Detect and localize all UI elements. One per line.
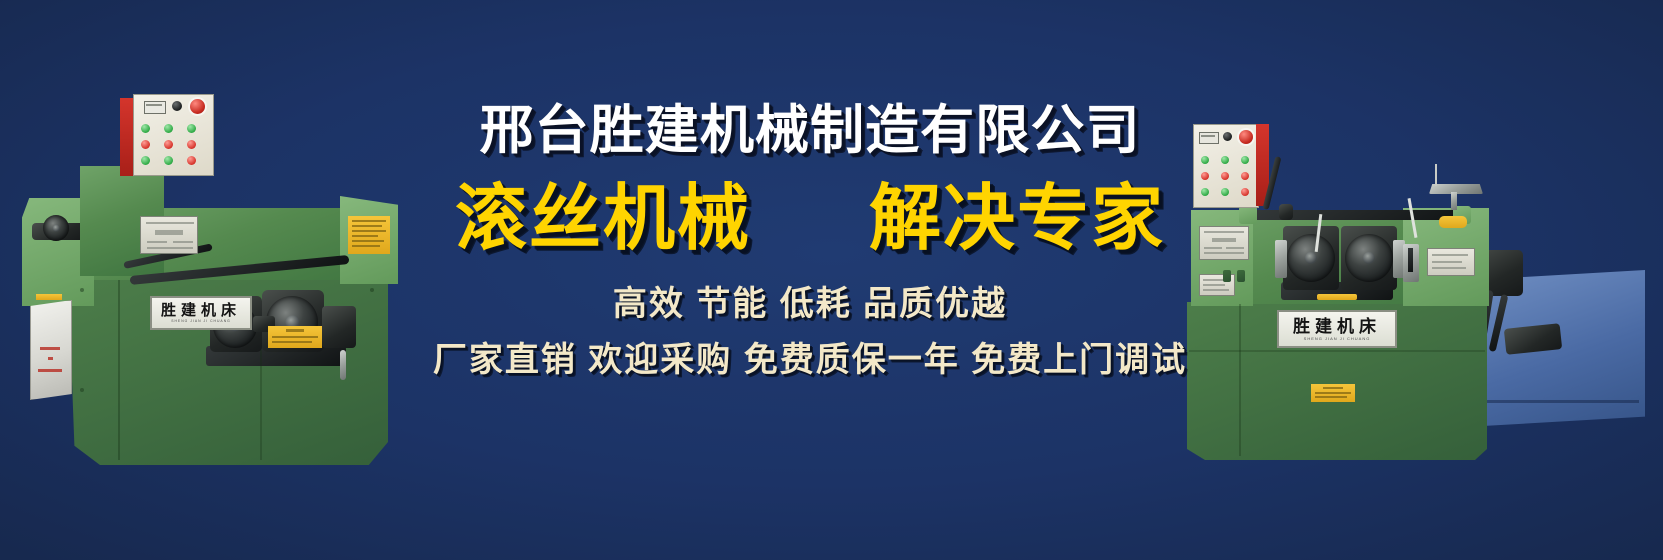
- panel-indicator-3[interactable]: [187, 124, 196, 133]
- control-panel-left-red-edge: [120, 98, 134, 176]
- machine-right-roller-die-b: [1345, 234, 1393, 282]
- panel-indicator-4[interactable]: [141, 140, 150, 149]
- machine-left-bolt-1: [80, 288, 84, 292]
- machine-left-bolt-3: [370, 288, 374, 292]
- panel-emergency-stop-icon[interactable]: [190, 99, 205, 114]
- panel-indicator-8[interactable]: [164, 156, 173, 165]
- machine-right: 胜建机床 SHENG JIAN JI CHUANG: [1165, 122, 1645, 462]
- machine-left-electrical-cabinet: [30, 300, 72, 400]
- panel-right-indicator-5[interactable]: [1221, 172, 1229, 180]
- panel-right-indicator-4[interactable]: [1201, 172, 1209, 180]
- machine-left-nameplate-cn: 胜建机床: [161, 303, 241, 318]
- machine-right-spec-plate: [1199, 226, 1249, 260]
- panel-right-selector-knob-icon[interactable]: [1223, 132, 1232, 141]
- panel-right-indicator-2[interactable]: [1221, 156, 1229, 164]
- panel-right-indicator-9[interactable]: [1241, 188, 1249, 196]
- panel-right-display-icon: [1199, 132, 1219, 144]
- machine-left-panel-seam-b: [260, 350, 262, 460]
- machine-left-cabinet-top-strip: [36, 294, 62, 300]
- machine-right-slide-a: [1275, 240, 1287, 278]
- panel-indicator-1[interactable]: [141, 124, 150, 133]
- machine-right-sight-glass-tube: [1408, 248, 1413, 272]
- panel-selector-knob-icon[interactable]: [172, 101, 182, 111]
- machine-left-motor: [322, 306, 356, 348]
- machine-right-panel-seam: [1239, 304, 1241, 456]
- machine-left-warning-label: [268, 326, 322, 348]
- machine-right-gauge-plate: [1427, 248, 1475, 276]
- machine-right-antenna: [1435, 164, 1437, 186]
- machine-right-hydraulic-seam: [1487, 400, 1639, 403]
- panel-right-indicator-3[interactable]: [1241, 156, 1249, 164]
- machine-right-cable-gland: [1279, 204, 1293, 220]
- panel-display-line: [146, 104, 162, 106]
- machine-left-bolt-2: [80, 388, 84, 392]
- machine-right-terminal-block: [1439, 216, 1467, 228]
- panel-indicator-9[interactable]: [187, 156, 196, 165]
- machine-right-fixture-post: [1451, 192, 1457, 210]
- panel-indicator-5[interactable]: [164, 140, 173, 149]
- panel-indicator-6[interactable]: [187, 140, 196, 149]
- machine-left-panel-seam-a: [118, 280, 120, 460]
- panel-right-emergency-stop-icon[interactable]: [1239, 130, 1253, 144]
- panel-right-indicator-1[interactable]: [1201, 156, 1209, 164]
- machine-left: 胜建机床 SHENG JIAN JI CHUANG: [10, 88, 420, 478]
- panel-right-indicator-6[interactable]: [1241, 172, 1249, 180]
- machine-right-base-edge: [1189, 350, 1485, 352]
- machine-left-spec-label-right: [348, 216, 390, 254]
- machine-right-knob-b[interactable]: [1237, 270, 1245, 282]
- machine-right-nameplate: 胜建机床 SHENG JIAN JI CHUANG: [1277, 310, 1397, 348]
- machine-left-pulley-left: [43, 215, 69, 241]
- panel-right-indicator-8[interactable]: [1221, 188, 1229, 196]
- machine-right-tie-bar-end-l: [1239, 206, 1257, 224]
- panel-display-icon: [144, 101, 166, 114]
- machine-left-control-panel[interactable]: [120, 94, 212, 178]
- machine-right-roller-die-a: [1287, 234, 1335, 282]
- panel-right-indicator-7[interactable]: [1201, 188, 1209, 196]
- machine-left-nameplate-pinyin: SHENG JIAN JI CHUANG: [171, 320, 231, 323]
- machine-left-stop-rod: [340, 350, 346, 380]
- machine-right-knob-a[interactable]: [1223, 270, 1231, 282]
- machine-right-nameplate-pinyin: SHENG JIAN JI CHUANG: [1304, 337, 1371, 341]
- machine-left-spec-plate: [140, 216, 198, 254]
- panel-indicator-7[interactable]: [141, 156, 150, 165]
- machine-right-control-panel[interactable]: [1193, 124, 1269, 206]
- machine-right-workpiece-rest: [1317, 294, 1357, 300]
- panel-indicator-2[interactable]: [164, 124, 173, 133]
- machine-right-warning-label: [1311, 384, 1355, 402]
- machine-right-nameplate-cn: 胜建机床: [1293, 318, 1381, 335]
- panel-right-display-line: [1201, 135, 1215, 137]
- promo-banner: 胜建机床 SHENG JIAN JI CHUANG: [0, 0, 1663, 560]
- machine-left-nameplate: 胜建机床 SHENG JIAN JI CHUANG: [150, 296, 252, 330]
